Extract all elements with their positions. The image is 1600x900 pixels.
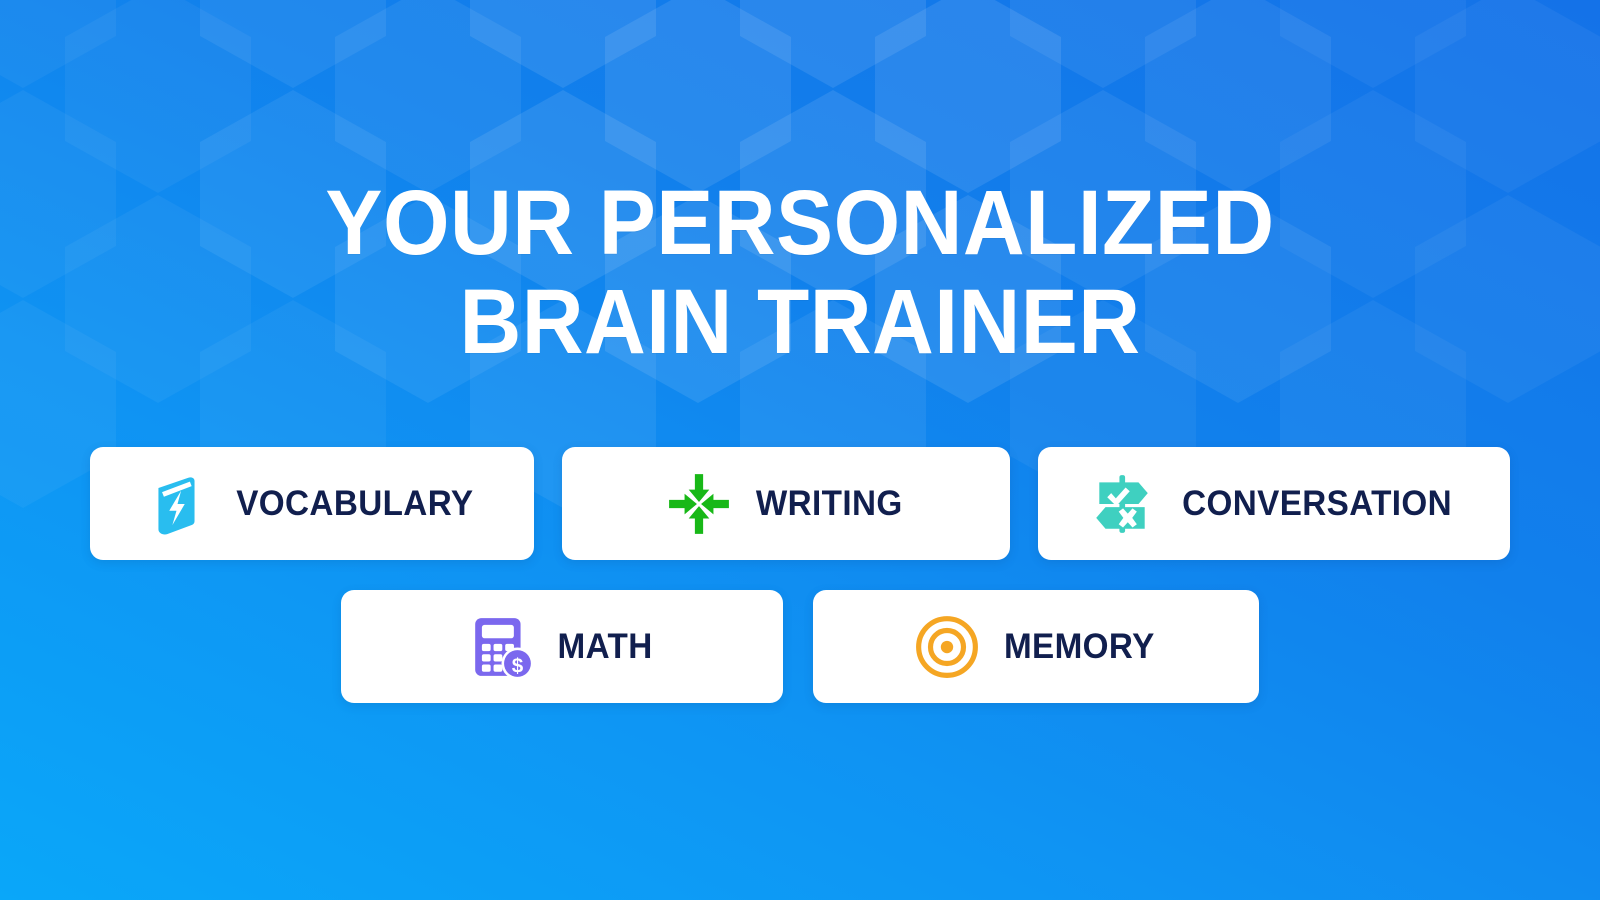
hexagon-shape [1280, 0, 1466, 88]
category-card-memory[interactable]: MEMORY [813, 590, 1259, 703]
category-row-top: VOCABULARY WRITING [0, 447, 1600, 560]
category-label-writing: WRITING [756, 484, 903, 524]
hexagon-shape [740, 0, 926, 88]
category-label-math: MATH [557, 627, 652, 667]
hero-banner: YOUR PERSONALIZED BRAIN TRAINER VOCABULA… [0, 0, 1600, 900]
hexagon-shape [470, 0, 656, 88]
category-row-bottom: $ MATH MEMORY [0, 590, 1600, 703]
category-label-conversation: CONVERSATION [1182, 484, 1452, 524]
category-label-vocabulary: VOCABULARY [236, 484, 473, 524]
hexagon-shape [1010, 0, 1196, 88]
signpost-icon [1089, 471, 1155, 537]
page-title-line-1: YOUR PERSONALIZED [56, 174, 1544, 273]
hexagon-shape [0, 0, 116, 88]
category-card-math[interactable]: $ MATH [341, 590, 783, 703]
hexagon-shape [1415, 0, 1600, 193]
hexagon-shape [605, 0, 791, 193]
page-title: YOUR PERSONALIZED BRAIN TRAINER [56, 174, 1544, 373]
page-title-line-2: BRAIN TRAINER [56, 273, 1544, 372]
category-label-memory: MEMORY [1004, 627, 1155, 667]
hexagon-shape [200, 0, 386, 88]
hexagon-shape [335, 0, 521, 193]
category-card-conversation[interactable]: CONVERSATION [1038, 447, 1510, 560]
book-lightning-icon [144, 471, 210, 537]
hexagon-shape [65, 0, 251, 193]
category-card-grid: VOCABULARY WRITING [0, 447, 1600, 703]
category-card-vocabulary[interactable]: VOCABULARY [90, 447, 534, 560]
category-card-writing[interactable]: WRITING [562, 447, 1010, 560]
hexagon-shape [1145, 0, 1331, 193]
converging-arrows-icon [666, 471, 732, 537]
target-icon [914, 614, 980, 680]
svg-text:$: $ [512, 654, 524, 677]
calculator-dollar-icon: $ [469, 614, 535, 680]
hexagon-shape [875, 0, 1061, 193]
